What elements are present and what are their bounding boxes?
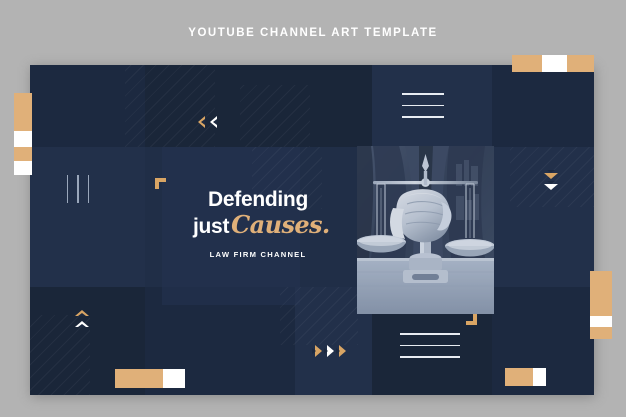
decorative-line: [402, 116, 444, 118]
chevron-down-pair: [544, 173, 558, 190]
corner-bracket-headline: [155, 178, 166, 189]
bar-left-edge: [14, 93, 32, 175]
chevron-right-icon: [339, 345, 346, 357]
headline-line-1: Defending: [193, 189, 323, 210]
headline-line-2: justCauses.: [193, 213, 323, 237]
scales-of-justice-illustration: [357, 146, 494, 314]
vertical-line: [77, 175, 78, 203]
vertical-line: [88, 175, 89, 203]
bar-bottom-left: [115, 369, 185, 388]
bar-bottom-right: [505, 368, 546, 386]
vertical-line: [67, 175, 68, 203]
chevron-right-triple: [315, 345, 346, 357]
headline-just: just: [193, 215, 229, 238]
panel-tile: [30, 65, 145, 147]
decorative-line: [402, 105, 444, 107]
page-title: YOUTUBE CHANNEL ART TEMPLATE: [0, 27, 626, 39]
panel-tile: [145, 65, 372, 147]
chevron-right-icon: [315, 345, 322, 357]
banner-content-clip: Defending justCauses. LAW FIRM CHANNEL: [30, 65, 594, 395]
bar-top-right: [512, 55, 594, 72]
decorative-line: [402, 93, 444, 95]
bar-right-edge: [590, 271, 612, 339]
chevron-up-icon: [75, 321, 89, 327]
headline-subtitle: LAW FIRM CHANNEL: [193, 250, 323, 259]
panel-tile: [492, 147, 594, 287]
chevron-right-icon: [327, 345, 334, 357]
chevron-up-icon: [75, 310, 89, 316]
decorative-line: [400, 356, 460, 358]
left-vertical-lines: [67, 175, 89, 203]
chevron-left-icon: [198, 116, 205, 128]
corner-bracket-photo: [466, 314, 477, 325]
panel-tile: [492, 65, 594, 147]
chevron-left-icon: [210, 116, 217, 128]
panel-tile: [30, 147, 145, 287]
decorative-line: [400, 333, 460, 335]
headline-block: Defending justCauses. LAW FIRM CHANNEL: [193, 189, 323, 259]
scales-of-justice-photo[interactable]: [357, 146, 494, 314]
bottom-right-lines: [400, 333, 460, 358]
decorative-line: [400, 345, 460, 347]
top-right-lines: [402, 93, 444, 118]
chevron-down-icon: [544, 184, 558, 190]
chevron-up-pair: [75, 310, 89, 327]
chevron-left-pair: [198, 116, 217, 128]
youtube-banner-artboard[interactable]: Defending justCauses. LAW FIRM CHANNEL: [30, 65, 594, 395]
chevron-down-icon: [544, 173, 558, 179]
headline-causes-script: Causes.: [231, 210, 330, 239]
